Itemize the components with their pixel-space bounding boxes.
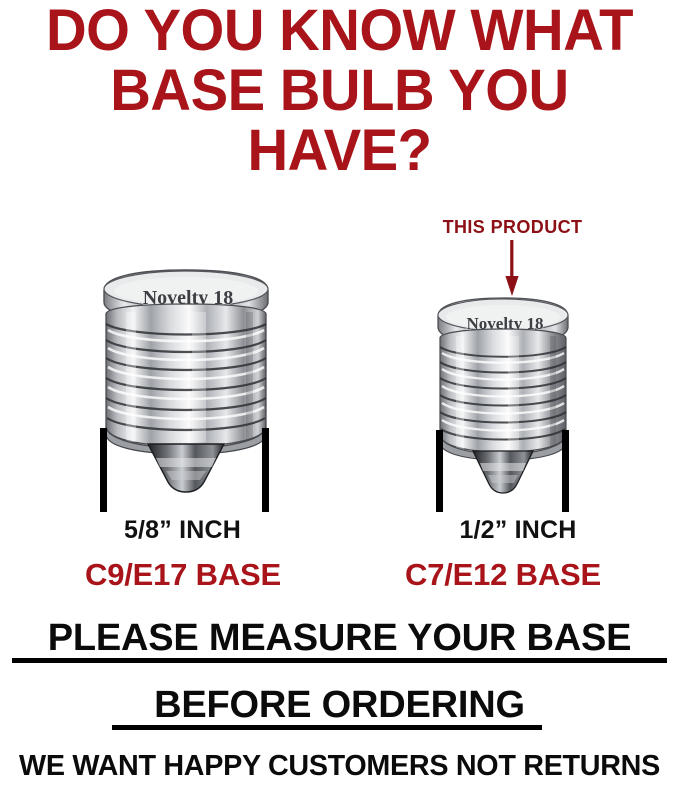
bulb-image-right: Novelty 18 — [432, 296, 574, 494]
measure-bar-left-end — [262, 428, 269, 512]
base-caption-right: C7/E12 BASE — [378, 557, 628, 593]
underline-rule-2 — [112, 725, 542, 730]
bottom-line-2: BEFORE ORDERING — [0, 686, 679, 724]
measure-bar-right-start — [436, 430, 443, 512]
this-product-label: THIS PRODUCT — [400, 217, 625, 238]
measure-bar-left-start — [100, 428, 107, 512]
underline-rule-1 — [12, 658, 667, 663]
bottom-line-1: PLEASE MEASURE YOUR BASE — [0, 619, 679, 657]
arrow-down-icon — [504, 240, 520, 296]
size-caption-right: 1/2” INCH — [418, 516, 618, 545]
bulb-base-infographic: DO YOU KNOW WHAT BASE BULB YOU HAVE? THI… — [0, 0, 679, 786]
size-caption-left: 5/8” INCH — [80, 516, 285, 545]
bulb-image-left: Novelty 18 — [96, 268, 276, 493]
measure-bar-right-end — [562, 430, 569, 512]
headline-line-3: HAVE? — [10, 122, 669, 180]
bottom-line-3: WE WANT HAPPY CUSTOMERS NOT RETURNS — [3, 752, 675, 781]
headline-line-1: DO YOU KNOW WHAT — [10, 2, 669, 60]
base-caption-left: C9/E17 BASE — [58, 557, 308, 593]
headline-line-2: BASE BULB YOU — [10, 62, 669, 120]
